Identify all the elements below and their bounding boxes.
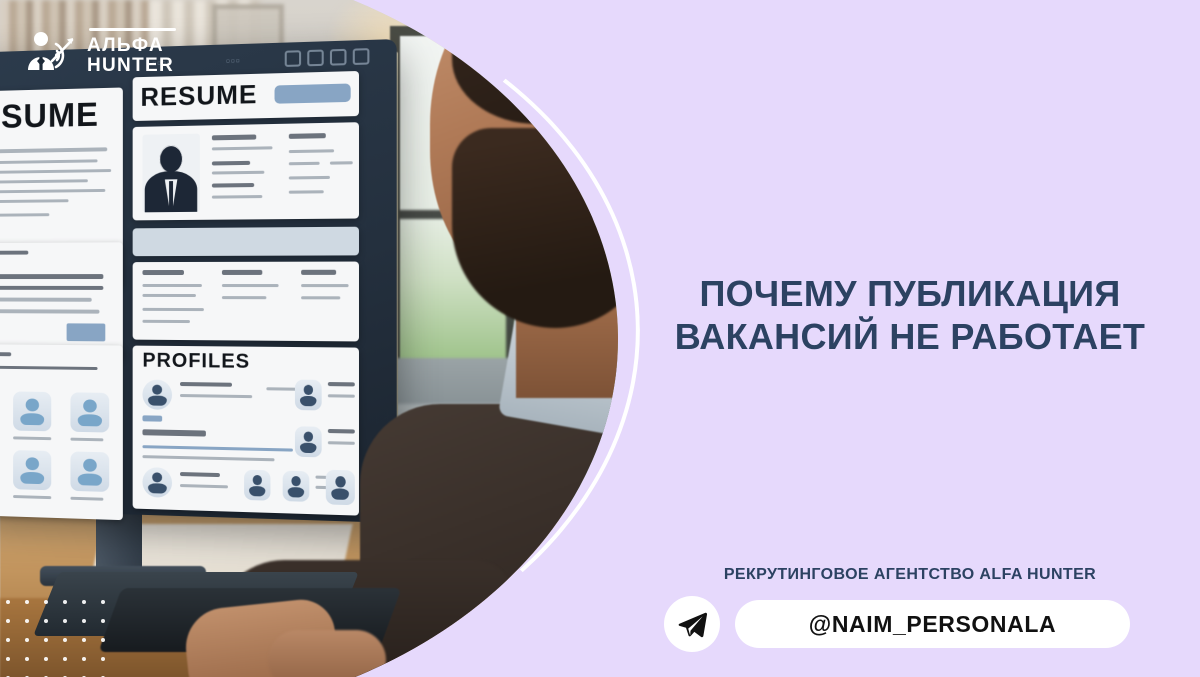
toolbar-icon-4: [353, 48, 370, 65]
profile-tile: [70, 392, 109, 432]
telegram-handle-button[interactable]: @NAIM_PERSONALA: [735, 600, 1130, 648]
hand-right: [268, 630, 386, 677]
profile-card-left: [0, 242, 123, 359]
toolbar-icon-2: [307, 50, 323, 67]
candidate-avatar: [142, 134, 199, 213]
candidate-detail-card: [133, 122, 359, 220]
page-title: ПОЧЕМУ ПУБЛИКАЦИЯ ВАКАНСИЙ НЕ РАБОТАЕТ: [640, 272, 1180, 358]
headline-line-2: ВАКАНСИЙ НЕ РАБОТАЕТ: [640, 315, 1180, 358]
profile-avatar: [295, 426, 322, 457]
telegram-handle-text: @NAIM_PERSONALA: [809, 611, 1056, 638]
monitor: ▫▫▫▫ ▫▫▫ RESUME: [0, 39, 397, 523]
office-scene: ▫▫▫▫ ▫▫▫ RESUME: [0, 0, 618, 677]
resume-body-card: [133, 262, 359, 342]
agency-label: РЕКРУТИНГОВОЕ АГЕНТСТВО ALFA HUNTER: [640, 566, 1180, 584]
section-banner: [133, 227, 359, 256]
recruiter-target-icon: [26, 26, 76, 76]
profiles-panel: PROFILES: [133, 346, 359, 516]
profile-avatar: [142, 467, 172, 498]
hair: [452, 0, 618, 124]
resume-document-right: RESUME: [133, 71, 359, 121]
profile-tile: [13, 391, 51, 431]
profile-avatar: [142, 380, 172, 410]
logo-line-2: HUNTER: [87, 55, 174, 77]
stats-card-left: [0, 344, 123, 520]
toolbar-pills: [275, 83, 351, 103]
brand-logo[interactable]: АЛЬФА HUNTER: [26, 24, 174, 77]
profile-avatar: [283, 471, 310, 502]
headline-line-1: ПОЧЕМУ ПУБЛИКАЦИЯ: [640, 272, 1180, 315]
recruiter-photo: ▫▫▫▫ ▫▫▫ RESUME: [0, 0, 618, 677]
profile-avatar: [244, 470, 270, 501]
resume-title-left: RESUME: [0, 96, 99, 137]
resume-title-right: RESUME: [140, 79, 257, 113]
telegram-paper-plane-icon[interactable]: [664, 596, 720, 652]
profile-avatar: [326, 470, 355, 506]
dot-grid-decoration: [0, 596, 150, 677]
toolbar-icon-3: [330, 49, 347, 66]
toolbar-icon-1: [285, 50, 301, 67]
logo-divider-line: [89, 28, 176, 31]
telegram-contact[interactable]: @NAIM_PERSONALA: [664, 596, 1130, 652]
social-media-poster: ▫▫▫▫ ▫▫▫ RESUME: [0, 0, 1200, 677]
profile-tile: [70, 451, 109, 492]
logo-line-1: АЛЬФА: [87, 36, 174, 55]
profiles-title: PROFILES: [142, 350, 250, 374]
profile-tile: [13, 450, 51, 490]
profile-avatar: [295, 380, 322, 411]
